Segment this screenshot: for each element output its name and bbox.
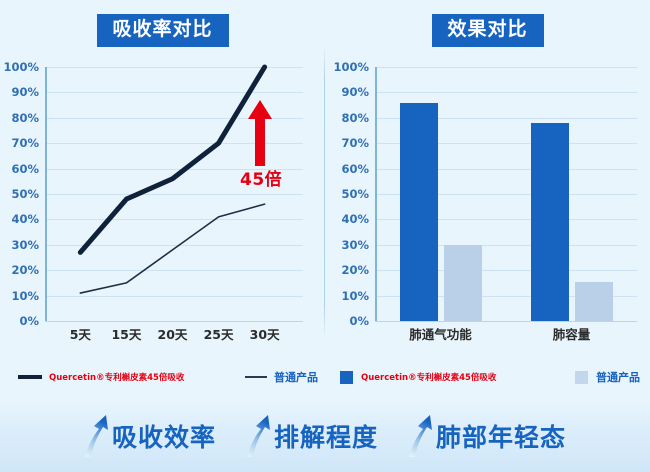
y-axis-tick-label: 100%: [333, 60, 369, 74]
y-axis-tick-label: 70%: [341, 136, 369, 150]
right-chart-bars-layer: [375, 67, 637, 321]
left-chart-x-axis-labels: 5天15天20天25天30天: [45, 324, 303, 346]
y-axis-tick-label: 20%: [341, 263, 369, 277]
y-axis-tick-label: 20%: [11, 263, 39, 277]
y-axis-tick-label: 90%: [11, 85, 39, 99]
right-chart-title-badge: 效果对比: [431, 14, 543, 47]
effect-comparison-panel: 效果对比 0%10%20%30%40%50%60%70%80%90%100% 肺…: [325, 0, 650, 400]
left-chart-legend: Quercetin®专利槲皮素45倍吸收 普通产品: [18, 366, 318, 388]
y-axis-tick-label: 70%: [11, 136, 39, 150]
x-axis-tick-label: 15天: [111, 324, 141, 343]
gridline: [45, 321, 303, 322]
bar: [400, 103, 438, 321]
blue-box-swatch: [340, 371, 353, 384]
x-axis-tick-label: 5天: [70, 324, 91, 343]
up-arrow-icon: [84, 414, 110, 458]
light-blue-box-swatch: [575, 371, 588, 384]
legend-label-plain-bar: 普通产品: [596, 369, 640, 385]
y-axis-tick-label: 80%: [341, 111, 369, 125]
y-axis-tick-label: 100%: [3, 60, 39, 74]
legend-item-plain-bar: 普通产品: [575, 369, 640, 385]
y-axis-tick-label: 0%: [349, 314, 369, 328]
line-series: [80, 67, 264, 252]
x-axis-tick-label: 肺容量: [553, 324, 591, 343]
right-chart-plot-area: [375, 67, 637, 321]
y-axis-tick-label: 10%: [341, 289, 369, 303]
y-axis-tick-label: 90%: [341, 85, 369, 99]
y-axis-tick-label: 0%: [19, 314, 39, 328]
y-axis-tick-label: 80%: [11, 111, 39, 125]
right-chart-legend: Quercetin®专利槲皮素45倍吸收 普通产品: [340, 366, 640, 388]
red-up-arrow-icon: [247, 100, 273, 166]
x-axis-tick-label: 20天: [158, 324, 188, 343]
y-axis-tick-label: 10%: [11, 289, 39, 303]
y-axis-tick-label: 50%: [11, 187, 39, 201]
bar: [531, 123, 569, 321]
legend-item-brand: Quercetin®专利槲皮素45倍吸收: [18, 371, 184, 383]
y-axis-tick-label: 40%: [11, 212, 39, 226]
x-axis-tick-label: 25天: [204, 324, 234, 343]
left-chart-title-badge: 吸收率对比: [96, 14, 228, 47]
y-axis-tick-label: 40%: [341, 212, 369, 226]
up-arrow-icon: [246, 414, 272, 458]
y-axis-tick-label: 30%: [341, 238, 369, 252]
y-axis-tick-label: 60%: [341, 162, 369, 176]
benefits-banner: 吸收效率排解程度肺部年轻态: [0, 400, 650, 472]
banner-item: 排解程度: [246, 414, 378, 458]
multiplier-annotation-label: 45倍: [240, 165, 282, 190]
up-arrow-icon: [408, 414, 434, 458]
legend-label-plain: 普通产品: [274, 369, 318, 385]
x-axis-tick-label: 30天: [250, 324, 280, 343]
legend-item-plain: 普通产品: [245, 369, 318, 385]
legend-label-brand: Quercetin®专利槲皮素45倍吸收: [49, 371, 184, 383]
infographic-root: 吸收率对比 0%10%20%30%40%50%60%70%80%90%100% …: [0, 0, 650, 472]
y-axis-tick-label: 50%: [341, 187, 369, 201]
y-axis-tick-label: 60%: [11, 162, 39, 176]
banner-item-label: 排解程度: [274, 418, 378, 454]
left-chart-y-axis-labels: 0%10%20%30%40%50%60%70%80%90%100%: [0, 67, 43, 321]
banner-item: 吸收效率: [84, 414, 216, 458]
banner-item: 肺部年轻态: [408, 414, 566, 458]
banner-item-label: 肺部年轻态: [436, 418, 566, 454]
legend-label-brand-bar: Quercetin®专利槲皮素45倍吸收: [361, 371, 496, 383]
bar: [444, 245, 482, 321]
banner-item-label: 吸收效率: [112, 418, 216, 454]
absorption-rate-panel: 吸收率对比 0%10%20%30%40%50%60%70%80%90%100% …: [0, 0, 325, 400]
y-axis-tick-label: 30%: [11, 238, 39, 252]
right-chart-x-axis-labels: 肺通气功能肺容量: [375, 324, 637, 346]
legend-item-brand-bar: Quercetin®专利槲皮素45倍吸收: [340, 371, 496, 384]
thin-line-swatch: [245, 376, 267, 378]
bar: [575, 282, 613, 321]
charts-area: 吸收率对比 0%10%20%30%40%50%60%70%80%90%100% …: [0, 0, 650, 400]
right-chart-y-axis-labels: 0%10%20%30%40%50%60%70%80%90%100%: [329, 67, 373, 321]
thick-line-swatch: [18, 375, 42, 379]
gridline: [375, 321, 637, 322]
x-axis-tick-label: 肺通气功能: [409, 324, 472, 343]
